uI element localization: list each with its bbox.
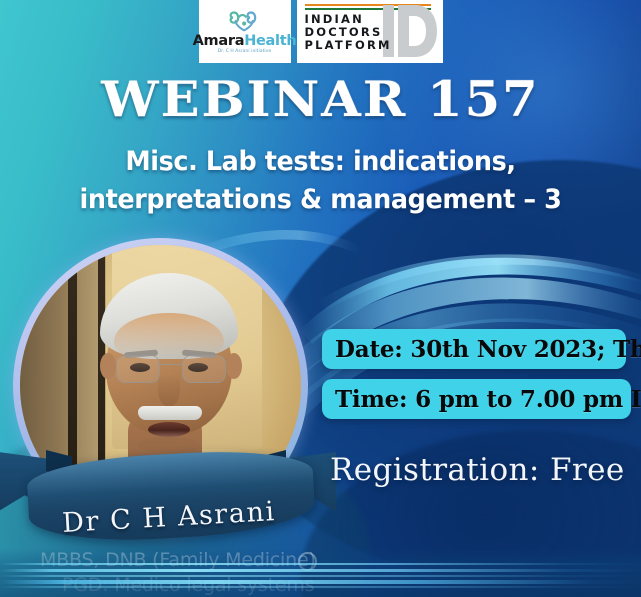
heart-infinity-icon	[228, 9, 262, 33]
circle-marker-icon	[298, 552, 317, 571]
idp-line-3: PLATFORM	[305, 39, 392, 52]
speaker-credentials: MBBS, DNB (Family Medicine) PGD: Medico …	[40, 548, 420, 597]
webinar-subtitle: Misc. Lab tests: indications, interpreta…	[34, 143, 607, 219]
amara-health-logo[interactable]: AmaraHealth Dr. C H Asrani initiative	[199, 0, 291, 63]
speaker-name-ribbon: Dr C H Asrani	[0, 444, 342, 548]
time-text: Time: 6 pm to 7.00 pm IST	[335, 386, 641, 413]
registration-text: Registration: Free	[330, 452, 622, 488]
credentials-line-2: PGD: Medico legal systems	[62, 573, 420, 597]
logo-strip: AmaraHealth Dr. C H Asrani initiative IN…	[0, 0, 641, 66]
indian-doctors-platform-logo[interactable]: INDIAN DOCTORS PLATFORM	[297, 0, 443, 63]
amara-word: Amara	[193, 33, 245, 49]
page-title: WEBINAR 157	[0, 73, 641, 125]
amara-health-wordmark: AmaraHealth	[193, 34, 297, 49]
idp-wordmark: INDIAN DOCTORS PLATFORM	[305, 13, 392, 52]
webinar-poster: AmaraHealth Dr. C H Asrani initiative IN…	[0, 0, 641, 597]
time-badge: Time: 6 pm to 7.00 pm IST	[322, 379, 631, 419]
date-text: Date: 30th Nov 2023; Thur	[335, 336, 641, 363]
credentials-line-1: MBBS, DNB (Family Medicine)	[40, 548, 420, 573]
date-badge: Date: 30th Nov 2023; Thur	[322, 329, 626, 369]
health-word: Health	[244, 33, 296, 49]
amara-tagline: Dr. C H Asrani initiative	[218, 50, 272, 54]
